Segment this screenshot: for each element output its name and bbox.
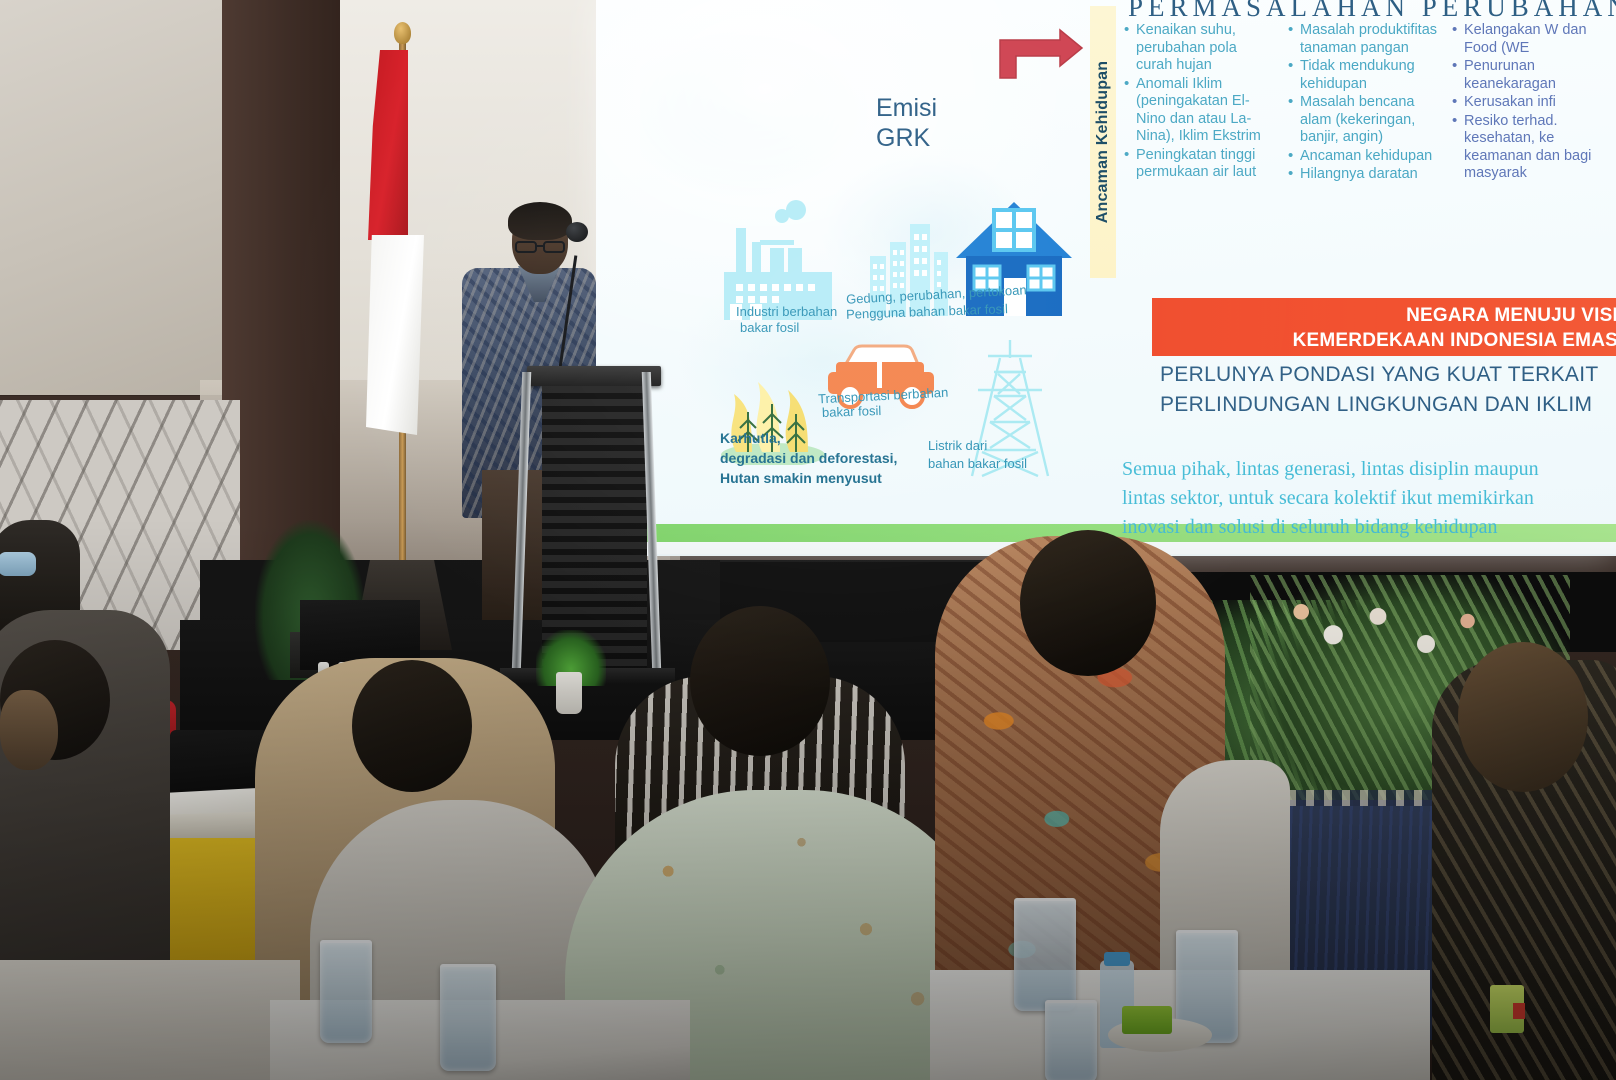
face-mask bbox=[0, 552, 36, 576]
slide-bullet-columns: Kenaikan suhu, perubahan pola curah huja… bbox=[1122, 22, 1616, 272]
slide-title: PERMASALAHAN PERUBAHAN IK bbox=[1128, 0, 1616, 23]
table-vase bbox=[556, 672, 582, 714]
audience-person-beige-head bbox=[352, 660, 472, 792]
bullet-item: Anomali Iklim (peningakatan El-Nino dan … bbox=[1122, 76, 1276, 146]
caption-electricity-line2: bahan bakar fosil bbox=[928, 456, 1027, 471]
red-arrow-icon bbox=[996, 28, 1084, 80]
vertical-label-band: Ancaman Kehidupan bbox=[1090, 6, 1116, 278]
speaker-hair bbox=[508, 202, 572, 240]
bullet-item: Ancaman kehidupan bbox=[1286, 148, 1440, 166]
bullet-column-3: Kelangakan W dan Food (WE Penurunan kean… bbox=[1450, 22, 1604, 272]
bullet-column-2: Masalah produktifitas tanaman pangan Tid… bbox=[1286, 22, 1440, 272]
audience-person-left-face bbox=[0, 690, 58, 770]
microphone-icon bbox=[566, 222, 588, 242]
podium-top bbox=[527, 366, 661, 386]
bullet-column-1: Kenaikan suhu, perubahan pola curah huja… bbox=[1122, 22, 1276, 272]
tablecloth-left bbox=[0, 960, 300, 1080]
badge-accent bbox=[1513, 1003, 1525, 1019]
audience-person-orange-batik-head bbox=[1020, 530, 1156, 676]
banner-line-2: KEMERDEKAAN INDONESIA EMAS bbox=[1152, 328, 1616, 353]
emission-label-line1: Emisi bbox=[876, 93, 937, 123]
closing-line-2: lintas sektor, untuk secara kolektif iku… bbox=[1122, 484, 1616, 513]
flag-finial bbox=[394, 22, 411, 44]
flag-white-stripe bbox=[366, 235, 424, 435]
caption-forest-line2: degradasi dan deforestasi, bbox=[720, 450, 897, 466]
slide-closing-text: Semua pihak, lintas generasi, lintas dis… bbox=[1122, 455, 1616, 542]
closing-line-3: inovasi dan solusi di seluruh bidang keh… bbox=[1122, 513, 1616, 542]
emission-label: Emisi GRK bbox=[876, 93, 937, 153]
closing-line-1: Semua pihak, lintas generasi, lintas dis… bbox=[1122, 455, 1616, 484]
slide-red-banner: NEGARA MENUJU VISI KEMERDEKAAN INDONESIA… bbox=[1152, 298, 1616, 356]
green-cake bbox=[1122, 1006, 1172, 1034]
caption-electricity-line1: Listrik dari bbox=[928, 438, 987, 453]
bullet-item: Kerusakan infi bbox=[1450, 94, 1604, 112]
bullet-item: Resiko terhad. kesehatan, ke keamanan da… bbox=[1450, 113, 1604, 183]
caption-industry-line2: bakar fosil bbox=[740, 320, 799, 335]
caption-transport-line2: bakar fosil bbox=[822, 403, 882, 420]
conference-photo: PERMASALAHAN PERUBAHAN IK Ancaman Kehidu… bbox=[0, 0, 1616, 1080]
subbanner-line-2: PERLINDUNGAN LINGKUNGAN DAN IKLIM bbox=[1160, 390, 1616, 420]
bullet-item: Masalah bencana alam (kekeringan, banjir… bbox=[1286, 94, 1440, 147]
water-glass bbox=[320, 940, 372, 1043]
banner-line-1: NEGARA MENUJU VISI bbox=[1152, 298, 1616, 328]
caption-industry-line1: Industri berbahan bbox=[736, 304, 837, 319]
bullet-item: Masalah produktifitas tanaman pangan bbox=[1286, 22, 1440, 57]
caption-forest-line1: Karhutla, bbox=[720, 430, 781, 446]
vertical-label-text: Ancaman Kehidupan bbox=[1094, 61, 1112, 224]
water-glass bbox=[1045, 1000, 1097, 1080]
audience-person-right-head bbox=[1458, 642, 1588, 792]
bullet-item: Peningkatan tinggi permukaan air laut bbox=[1122, 147, 1276, 182]
water-glass bbox=[440, 964, 496, 1071]
emission-label-line2: GRK bbox=[876, 123, 937, 153]
bullet-item: Hilangnya daratan bbox=[1286, 166, 1440, 184]
glasses-icon bbox=[515, 240, 565, 252]
caption-forest-line3: Hutan smakin menyusut bbox=[720, 470, 882, 486]
subbanner-line-1: PERLUNYA PONDASI YANG KUAT TERKAIT bbox=[1160, 360, 1616, 390]
bullet-item: Kenaikan suhu, perubahan pola curah huja… bbox=[1122, 22, 1276, 75]
bullet-item: Tidak mendukung kehidupan bbox=[1286, 58, 1440, 93]
bottle-cap bbox=[1104, 952, 1130, 966]
bullet-item: Penurunan keanekaragan bbox=[1450, 58, 1604, 93]
water-glass bbox=[1014, 898, 1076, 1011]
bullet-item: Kelangakan W dan Food (WE bbox=[1450, 22, 1604, 57]
slide-subbanner: PERLUNYA PONDASI YANG KUAT TERKAIT PERLI… bbox=[1160, 360, 1616, 420]
wall-panel bbox=[0, 0, 222, 395]
audience-person-black-batik-head bbox=[690, 606, 830, 756]
